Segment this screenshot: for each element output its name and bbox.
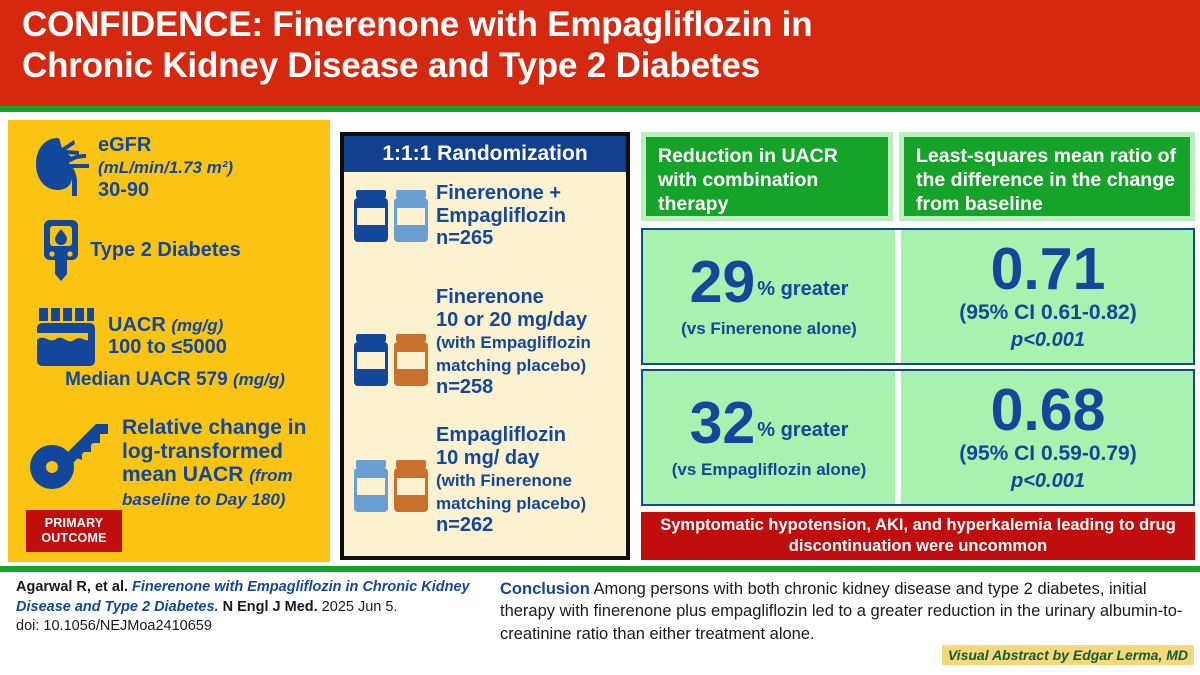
result-row-1-comparator: (vs Finerenone alone) <box>681 319 857 339</box>
randomization-title: 1:1:1 Randomization <box>344 136 626 172</box>
citation-authors: Agarwal R, et al. <box>16 579 132 595</box>
header-divider <box>0 106 1200 112</box>
pill-bottles-icon <box>350 424 436 519</box>
result-row-2-reduction: 32 % greater (vs Empagliflozin alone) <box>643 371 895 504</box>
result-row-1-pvalue: p<0.001 <box>1011 329 1085 352</box>
urine-cup-icon <box>24 306 108 368</box>
results-header-left: Reduction in UACR with combination thera… <box>641 132 893 221</box>
key-icon <box>22 414 122 496</box>
arm-3-note: (with Finerenone matching placebo) <box>436 471 586 513</box>
trial-arm-1: Finerenone + Empagliflozin n=265 <box>350 182 624 250</box>
result-row-1-ratio-group: 0.71 (95% CI 0.61-0.82) p<0.001 <box>901 230 1195 363</box>
result-row-1: 29 % greater (vs Finerenone alone) 0.71 … <box>641 228 1195 365</box>
criterion-uacr-text: UACR (mg/g) 100 to ≤5000 <box>108 306 227 359</box>
citation-doi: doi: 10.1056/NEJMoa2410659 <box>16 618 212 634</box>
result-row-1-ratio: 0.71 <box>991 241 1106 297</box>
result-row-2-value: 32 <box>690 395 756 451</box>
page-title: CONFIDENCE: Finerenone with Empagliflozi… <box>22 4 1184 87</box>
randomization-panel: 1:1:1 Randomization Finerenone + Empagli… <box>340 132 630 560</box>
trial-arm-2-text: Finerenone 10 or 20 mg/day (with Empagli… <box>436 286 624 399</box>
kidney-icon <box>24 130 98 204</box>
poster-header: CONFIDENCE: Finerenone with Empagliflozi… <box>0 0 1200 106</box>
trial-arm-3: Empagliflozin 10 mg/ day (with Finerenon… <box>350 424 624 537</box>
uacr-label: UACR <box>108 314 166 336</box>
primary-outcome-text: Relative change in log-transformed mean … <box>122 414 328 510</box>
criterion-egfr: eGFR (mL/min/1.73 m²) 30-90 <box>24 130 324 204</box>
uacr-units: (mg/g) <box>171 316 223 335</box>
median-uacr-label: Median UACR 579 <box>65 369 228 390</box>
arm-3-n: n=262 <box>436 514 493 536</box>
arm-1-name: Finerenone + Empagliflozin <box>436 182 566 227</box>
status-badge-primary-outcome: PRIMARY OUTCOME <box>26 510 122 552</box>
criterion-primary-outcome: Relative change in log-transformed mean … <box>22 414 328 510</box>
criterion-egfr-text: eGFR (mL/min/1.73 m²) 30-90 <box>98 130 233 201</box>
conclusion-label: Conclusion <box>500 580 590 598</box>
egfr-label: eGFR <box>98 134 151 156</box>
result-row-1-reduction: 29 % greater (vs Finerenone alone) <box>643 230 895 363</box>
citation-journal: N Engl J Med. <box>219 599 318 615</box>
criterion-uacr: UACR (mg/g) 100 to ≤5000 <box>24 306 330 368</box>
byline: Visual Abstract by Edgar Lerma, MD <box>942 645 1194 665</box>
glucose-meter-icon <box>32 218 90 282</box>
title-line-1: CONFIDENCE: Finerenone with Empagliflozi… <box>22 5 812 44</box>
results-header-right: Least-squares mean ratio of the differen… <box>899 132 1195 221</box>
footer-divider <box>0 566 1200 572</box>
badge-line-1: PRIMARY <box>45 516 104 530</box>
arm-2-name: Finerenone <box>436 286 544 308</box>
arm-2-n: n=258 <box>436 376 493 398</box>
t2d-label: Type 2 Diabetes <box>90 239 241 261</box>
result-row-2-ratio: 0.68 <box>991 382 1106 438</box>
population-criteria-panel: eGFR (mL/min/1.73 m²) 30-90 Type 2 Diabe… <box>8 120 330 562</box>
result-row-1-value: 29 <box>690 254 756 310</box>
criterion-type2-diabetes: Type 2 Diabetes <box>32 218 322 282</box>
pill-bottles-icon <box>350 286 436 393</box>
result-row-2: 32 % greater (vs Empagliflozin alone) 0.… <box>641 369 1195 506</box>
median-uacr-units: (mg/g) <box>233 370 285 389</box>
arm-2-note: (with Empagliflozin matching placebo) <box>436 333 591 375</box>
median-uacr: Median UACR 579 (mg/g) <box>22 369 328 391</box>
safety-banner: Symptomatic hypotension, AKI, and hyperk… <box>641 512 1195 560</box>
arm-3-dose: 10 mg/ day <box>436 447 539 469</box>
citation-date: 2025 Jun 5. <box>318 599 398 615</box>
result-row-2-value-row: 32 % greater <box>690 395 849 451</box>
pill-bottles-icon <box>350 182 436 249</box>
arm-3-name: Empagliflozin <box>436 424 566 446</box>
result-row-2-unit: % greater <box>755 419 848 451</box>
uacr-value: 100 to ≤5000 <box>108 336 227 358</box>
result-row-1-unit: % greater <box>755 278 848 310</box>
arm-1-n: n=265 <box>436 227 493 249</box>
conclusion-text: Among persons with both chronic kidney d… <box>500 580 1182 643</box>
result-row-1-ci: (95% CI 0.61-0.82) <box>959 301 1136 325</box>
title-line-2: Chronic Kidney Disease and Type 2 Diabet… <box>22 46 760 85</box>
badge-line-2: OUTCOME <box>41 531 106 545</box>
result-row-2-ci: (95% CI 0.59-0.79) <box>959 442 1136 466</box>
citation: Agarwal R, et al. Finerenone with Empagl… <box>16 578 484 637</box>
conclusion: Conclusion Among persons with both chron… <box>500 578 1190 645</box>
arm-2-dose: 10 or 20 mg/day <box>436 309 587 331</box>
trial-arm-1-text: Finerenone + Empagliflozin n=265 <box>436 182 624 250</box>
egfr-value: 30-90 <box>98 179 149 201</box>
result-row-1-value-row: 29 % greater <box>690 254 849 310</box>
trial-arm-2: Finerenone 10 or 20 mg/day (with Empagli… <box>350 286 624 399</box>
result-row-2-comparator: (vs Empagliflozin alone) <box>672 460 867 480</box>
trial-arm-3-text: Empagliflozin 10 mg/ day (with Finerenon… <box>436 424 624 537</box>
visual-abstract-poster: CONFIDENCE: Finerenone with Empagliflozi… <box>0 0 1200 675</box>
egfr-units: (mL/min/1.73 m²) <box>98 158 233 177</box>
result-row-2-ratio-group: 0.68 (95% CI 0.59-0.79) p<0.001 <box>901 371 1195 504</box>
result-row-2-pvalue: p<0.001 <box>1011 470 1085 493</box>
